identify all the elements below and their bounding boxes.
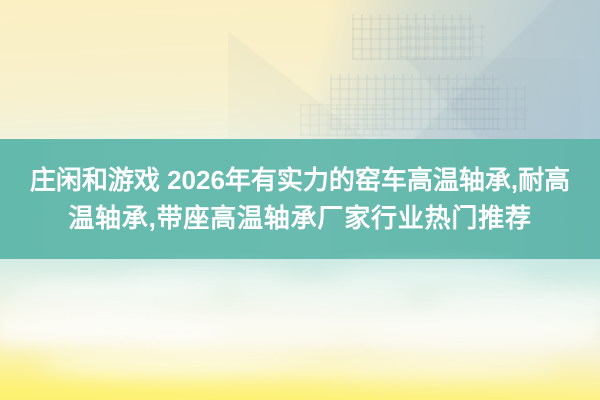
cloud-icon xyxy=(40,351,320,377)
cloud-icon xyxy=(150,325,360,351)
building-edge-watermark-icon xyxy=(228,0,378,150)
headline-line-2: 温轴承,带座高温轴承厂家行业热门推荐 xyxy=(68,199,532,237)
headline-line-1: 庄闲和游戏 2026年有实力的窑车高温轴承,耐高 xyxy=(30,161,570,199)
cloud-icon xyxy=(430,289,600,315)
window-grid-watermark-icon xyxy=(352,14,472,60)
cloud-icon xyxy=(300,355,560,379)
cloud-icon xyxy=(0,317,222,347)
sky-haze-overlay xyxy=(0,293,600,355)
window-grid-watermark-icon xyxy=(400,24,486,58)
window-grid-watermark-icon xyxy=(452,86,526,130)
cloud-icon xyxy=(352,321,592,351)
window-grid-watermark-icon xyxy=(300,104,390,136)
cloud-icon xyxy=(120,269,290,289)
cloud-icon xyxy=(10,281,220,307)
cloud-icon xyxy=(232,285,412,307)
sky-gradient-panel xyxy=(0,259,600,400)
cloud-icon xyxy=(330,265,530,289)
banner-image: 庄闲和游戏 2026年有实力的窑车高温轴承,耐高 温轴承,带座高温轴承厂家行业热… xyxy=(0,0,600,400)
headline-band: 庄闲和游戏 2026年有实力的窑车高温轴承,耐高 温轴承,带座高温轴承厂家行业热… xyxy=(0,139,600,259)
top-gradient-panel xyxy=(0,0,600,140)
window-grid-watermark-icon xyxy=(330,74,500,130)
